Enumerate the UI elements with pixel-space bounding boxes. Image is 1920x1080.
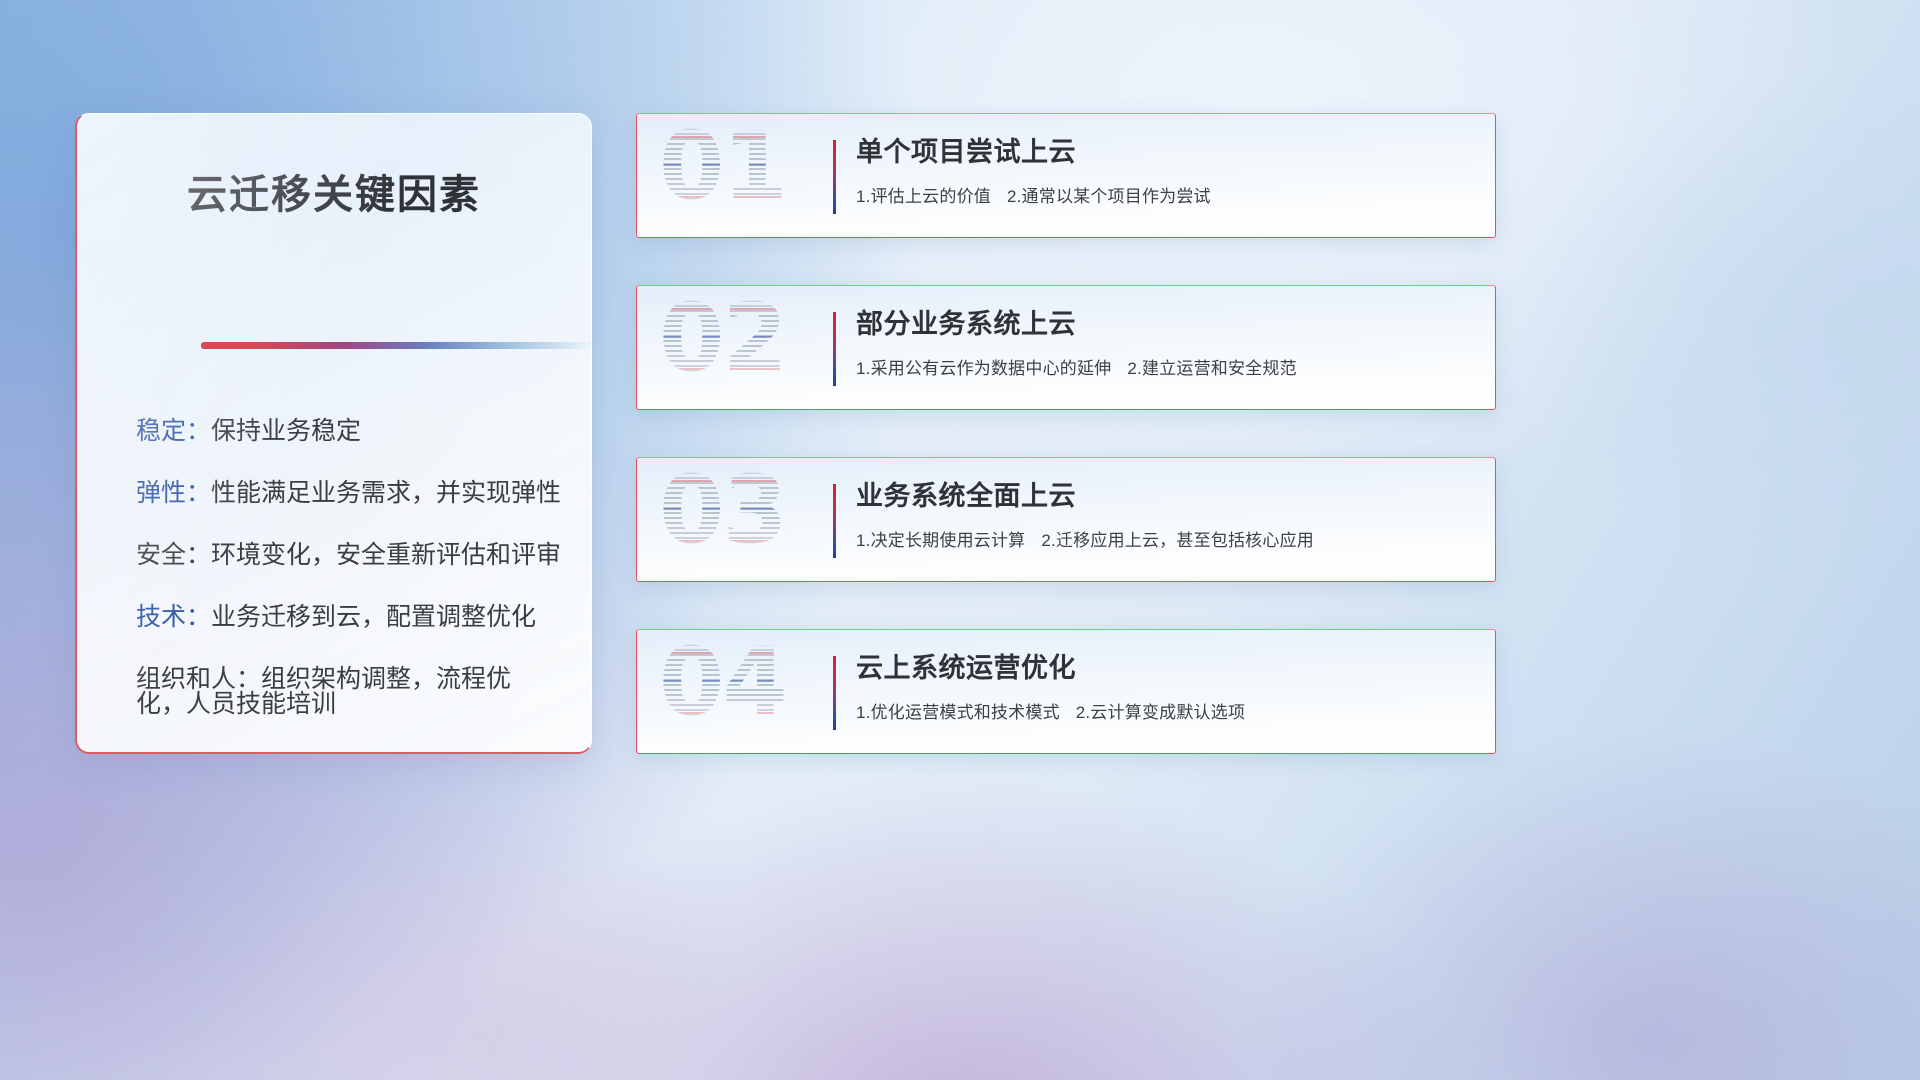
- migration-steps-list: 01 01 单个项目尝试上云 1.评估上云的价值2.通常以某个项目作为尝试 02…: [636, 113, 1496, 755]
- step-description-part-1: 1.评估上云的价值: [856, 187, 991, 206]
- factor-key: 技术：: [136, 603, 211, 631]
- factor-value: 业务迁移到云，配置调整优化: [211, 603, 536, 631]
- factor-value: 保持业务稳定: [211, 417, 361, 445]
- factor-list: 稳定：保持业务稳定 弹性：性能满足业务需求，并实现弹性 安全：环境变化，安全重新…: [77, 419, 591, 717]
- step-title: 业务系统全面上云: [856, 480, 1477, 512]
- step-number-glyph-accent: 03: [659, 468, 786, 561]
- step-title: 云上系统运营优化: [856, 652, 1477, 684]
- step-card-01[interactable]: 01 01 单个项目尝试上云 1.评估上云的价值2.通常以某个项目作为尝试: [636, 113, 1496, 238]
- step-body: 单个项目尝试上云 1.评估上云的价值2.通常以某个项目作为尝试: [856, 136, 1477, 207]
- step-number-glyph-accent: 02: [659, 296, 786, 389]
- step-divider-bar: [833, 656, 836, 730]
- step-divider-bar: [833, 140, 836, 214]
- step-card-02[interactable]: 02 02 部分业务系统上云 1.采用公有云作为数据中心的延伸2.建立运营和安全…: [636, 285, 1496, 410]
- step-body: 部分业务系统上云 1.采用公有云作为数据中心的延伸2.建立运营和安全规范: [856, 308, 1477, 379]
- list-item: 组织和人：组织架构调整，流程优化，人员技能培训: [107, 667, 561, 717]
- key-factors-panel: 云迁移关键因素 稳定：保持业务稳定 弹性：性能满足业务需求，并实现弹性 安全：环…: [75, 113, 592, 754]
- list-item: 安全：环境变化，安全重新评估和评审: [107, 543, 561, 568]
- step-description: 1.采用公有云作为数据中心的延伸2.建立运营和安全规范: [856, 354, 1477, 379]
- factor-value: 环境变化，安全重新评估和评审: [211, 541, 561, 569]
- factor-key: 弹性：: [136, 479, 211, 507]
- step-body: 云上系统运营优化 1.优化运营模式和技术模式2.云计算变成默认选项: [856, 652, 1477, 723]
- step-description-part-1: 1.采用公有云作为数据中心的延伸: [856, 359, 1111, 378]
- step-number-01: 01 01: [659, 124, 829, 230]
- step-number-04: 04 04: [659, 640, 829, 746]
- factor-key: 稳定：: [136, 417, 211, 445]
- factor-value: 性能满足业务需求，并实现弹性: [211, 479, 561, 507]
- step-description: 1.评估上云的价值2.通常以某个项目作为尝试: [856, 182, 1477, 207]
- step-card-04[interactable]: 04 04 云上系统运营优化 1.优化运营模式和技术模式2.云计算变成默认选项: [636, 629, 1496, 754]
- step-divider-bar: [833, 312, 836, 386]
- step-description: 1.决定长期使用云计算2.迁移应用上云，甚至包括核心应用: [856, 526, 1477, 551]
- step-number-glyph-accent: 04: [659, 640, 786, 733]
- step-title: 部分业务系统上云: [856, 308, 1477, 340]
- list-item: 技术：业务迁移到云，配置调整优化: [107, 605, 561, 630]
- step-title: 单个项目尝试上云: [856, 136, 1477, 168]
- step-number-03: 03 03: [659, 468, 829, 574]
- list-item: 弹性：性能满足业务需求，并实现弹性: [107, 481, 561, 506]
- factor-key: 组织和人：: [136, 665, 261, 693]
- step-body: 业务系统全面上云 1.决定长期使用云计算2.迁移应用上云，甚至包括核心应用: [856, 480, 1477, 551]
- list-item: 稳定：保持业务稳定: [107, 419, 561, 444]
- step-description-part-2: 2.建立运营和安全规范: [1127, 359, 1296, 378]
- step-description-part-2: 2.通常以某个项目作为尝试: [1007, 187, 1211, 206]
- step-description: 1.优化运营模式和技术模式2.云计算变成默认选项: [856, 698, 1477, 723]
- step-description-part-1: 1.优化运营模式和技术模式: [856, 703, 1060, 722]
- step-description-part-1: 1.决定长期使用云计算: [856, 531, 1025, 550]
- step-description-part-2: 2.云计算变成默认选项: [1076, 703, 1245, 722]
- step-number-02: 02 02: [659, 296, 829, 402]
- factor-key: 安全：: [136, 541, 211, 569]
- step-card-03[interactable]: 03 03 业务系统全面上云 1.决定长期使用云计算2.迁移应用上云，甚至包括核…: [636, 457, 1496, 582]
- step-number-glyph-accent: 01: [659, 124, 786, 217]
- step-description-part-2: 2.迁移应用上云，甚至包括核心应用: [1041, 531, 1314, 550]
- page-title: 云迁移关键因素: [77, 162, 591, 220]
- title-underline-rule: [201, 342, 591, 349]
- step-divider-bar: [833, 484, 836, 558]
